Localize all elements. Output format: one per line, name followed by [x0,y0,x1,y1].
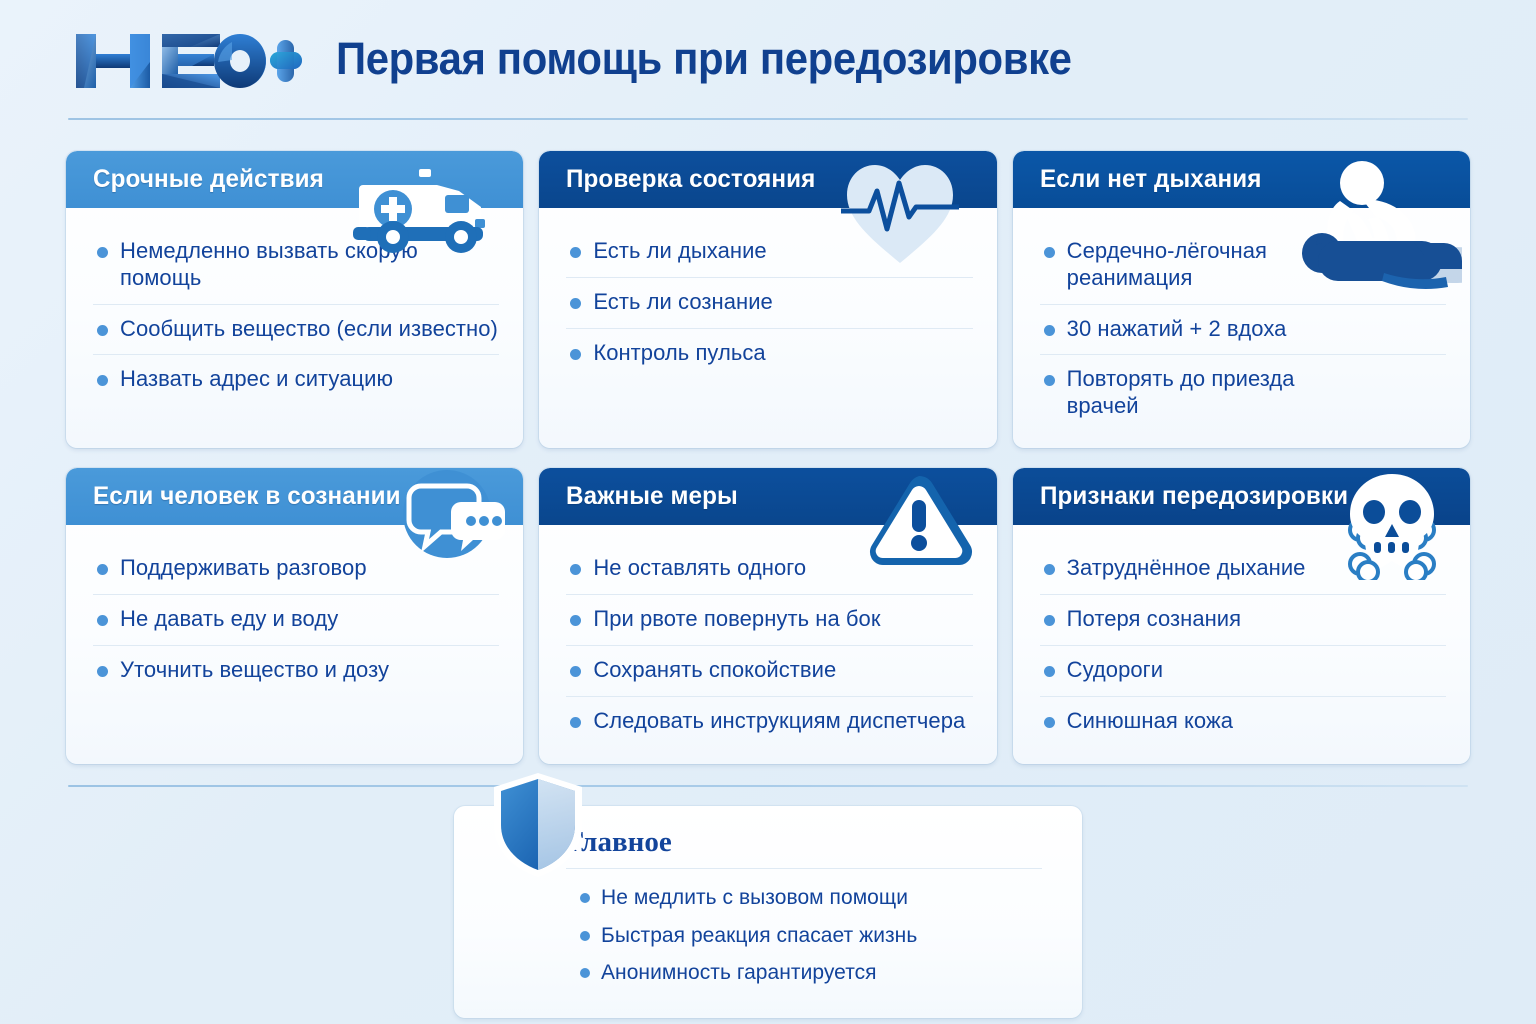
card-body: Немедленно вызвать скорую помощь Сообщит… [66,208,523,421]
list-item[interactable]: Контроль пульса [566,329,972,379]
bullet-icon [570,615,581,626]
list-item[interactable]: Потеря сознания [1040,595,1446,646]
item-list: Затруднённое дыхание Потеря сознания Суд… [1040,544,1446,746]
card-header: Признаки передозировки [1013,468,1470,525]
bullet-icon [580,893,590,903]
item-label: 30 нажатий + 2 вдоха [1067,316,1287,343]
summary-panel[interactable]: Главное Не медлить с вызовом помощи Быст… [454,806,1082,1018]
item-label: Назвать адрес и ситуацию [120,366,393,393]
bullet-icon [570,666,581,677]
bullet-icon [1044,717,1055,728]
bullet-icon [570,298,581,309]
item-list: Не оставлять одного При рвоте повернуть … [566,544,972,746]
item-label: Есть ли сознание [593,289,773,316]
bullet-icon [97,666,108,677]
list-item[interactable]: Повторять до приезда врачей [1040,355,1446,432]
card-important-measures[interactable]: Важные меры Не оставлять одного При рвот… [539,468,996,764]
list-item[interactable]: Затруднённое дыхание [1040,544,1446,595]
list-item[interactable]: Поддерживать разговор [93,544,499,595]
bottom-divider [68,785,1468,787]
item-label: Затруднённое дыхание [1067,555,1306,582]
item-list: Немедленно вызвать скорую помощь Сообщит… [93,227,499,405]
list-item[interactable]: Анонимность гарантируется [580,954,1042,992]
bullet-icon [1044,666,1055,677]
item-label: Не оставлять одного [593,555,806,582]
list-item[interactable]: Не оставлять одного [566,544,972,595]
bullet-icon [97,247,108,258]
list-item[interactable]: Есть ли дыхание [566,227,972,278]
card-no-breathing[interactable]: Если нет дыхания [1013,151,1470,448]
list-item[interactable]: Не медлить с вызовом помощи [580,879,1042,917]
summary-section: Главное Не медлить с вызовом помощи Быст… [66,806,1470,1018]
card-conscious-person[interactable]: Если человек в сознании Поддерживать раз… [66,468,523,764]
bullet-icon [580,968,590,978]
bullet-icon [570,717,581,728]
card-header: Проверка состояния [539,151,996,208]
bullet-icon [1044,375,1055,386]
card-body: Есть ли дыхание Есть ли сознание Контрол… [539,208,996,394]
bullet-icon [1044,615,1055,626]
list-item[interactable]: 30 нажатий + 2 вдоха [1040,305,1446,356]
card-body: Поддерживать разговор Не давать еду и во… [66,525,523,711]
card-header: Срочные действия [66,151,523,208]
list-item[interactable]: Следовать инструкциям диспетчера [566,697,972,747]
bullet-icon [97,325,108,336]
card-title: Признаки передозировки [1040,482,1348,511]
list-item[interactable]: Сохранять спокойствие [566,646,972,697]
card-urgent-actions[interactable]: Срочные действия [66,151,523,448]
item-label: Следовать инструкциям диспетчера [593,708,965,735]
list-item[interactable]: Быстрая реакция спасает жизнь [580,917,1042,955]
bullet-icon [580,931,590,941]
item-label: Судороги [1067,657,1163,684]
page-header: Первая помощь при передозировке [66,0,1470,118]
item-label: Поддерживать разговор [120,555,367,582]
card-title: Если человек в сознании [93,482,401,511]
card-title: Проверка состояния [566,165,815,194]
item-label: Сердечно-лёгочная реанимация [1067,238,1322,292]
card-header: Если человек в сознании [66,468,523,525]
bullet-icon [97,615,108,626]
item-label: Быстрая реакция спасает жизнь [601,923,917,949]
item-label: Немедленно вызвать скорую помощь [120,238,499,292]
item-label: Повторять до приезда врачей [1067,366,1322,420]
item-label: Сообщить вещество (если известно) [120,316,498,343]
bullet-icon [1044,247,1055,258]
item-label: Уточнить вещество и дозу [120,657,389,684]
list-item[interactable]: Не давать еду и воду [93,595,499,646]
item-label: Не давать еду и воду [120,606,338,633]
item-label: Синюшная кожа [1067,708,1233,735]
page-title: Первая помощь при передозировке [336,33,1072,85]
bullet-icon [97,375,108,386]
card-body: Затруднённое дыхание Потеря сознания Суд… [1013,525,1470,762]
header-divider [68,118,1468,120]
bullet-icon [570,564,581,575]
card-header: Важные меры [539,468,996,525]
card-body: Сердечно-лёгочная реанимация 30 нажатий … [1013,208,1470,448]
card-condition-check[interactable]: Проверка состояния Есть ли дыхание Есть … [539,151,996,448]
card-title: Важные меры [566,482,738,511]
bullet-icon [97,564,108,575]
bullet-icon [570,247,581,258]
list-item[interactable]: Есть ли сознание [566,278,972,329]
bullet-icon [1044,325,1055,336]
card-body: Не оставлять одного При рвоте повернуть … [539,525,996,762]
item-list: Поддерживать разговор Не давать еду и во… [93,544,499,695]
item-label: Не медлить с вызовом помощи [601,885,908,911]
list-item[interactable]: Уточнить вещество и дозу [93,646,499,696]
summary-title: Главное [566,826,1042,869]
infographic-page: Первая помощь при передозировке Срочные … [0,0,1536,1024]
list-item[interactable]: Синюшная кожа [1040,697,1446,747]
card-title: Срочные действия [93,165,324,194]
list-item[interactable]: Назвать адрес и ситуацию [93,355,499,405]
item-list: Есть ли дыхание Есть ли сознание Контрол… [566,227,972,378]
bullet-icon [570,349,581,360]
item-label: Анонимность гарантируется [601,960,877,986]
card-title: Если нет дыхания [1040,165,1261,194]
item-label: Потеря сознания [1067,606,1241,633]
list-item[interactable]: При рвоте повернуть на бок [566,595,972,646]
bullet-icon [1044,564,1055,575]
item-label: Сохранять спокойствие [593,657,836,684]
neo-plus-logo [74,28,302,90]
shield-icon [494,773,582,882]
cards-grid: Срочные действия [66,151,1470,764]
list-item[interactable]: Судороги [1040,646,1446,697]
list-item[interactable]: Сердечно-лёгочная реанимация [1040,227,1446,305]
item-label: Есть ли дыхание [593,238,766,265]
card-overdose-signs[interactable]: Признаки передозировки [1013,468,1470,764]
item-list: Сердечно-лёгочная реанимация 30 нажатий … [1040,227,1446,432]
summary-item-list: Не медлить с вызовом помощи Быстрая реак… [566,879,1042,992]
list-item[interactable]: Сообщить вещество (если известно) [93,305,499,356]
item-label: Контроль пульса [593,340,765,367]
list-item[interactable]: Немедленно вызвать скорую помощь [93,227,499,305]
card-header: Если нет дыхания [1013,151,1470,208]
item-label: При рвоте повернуть на бок [593,606,880,633]
